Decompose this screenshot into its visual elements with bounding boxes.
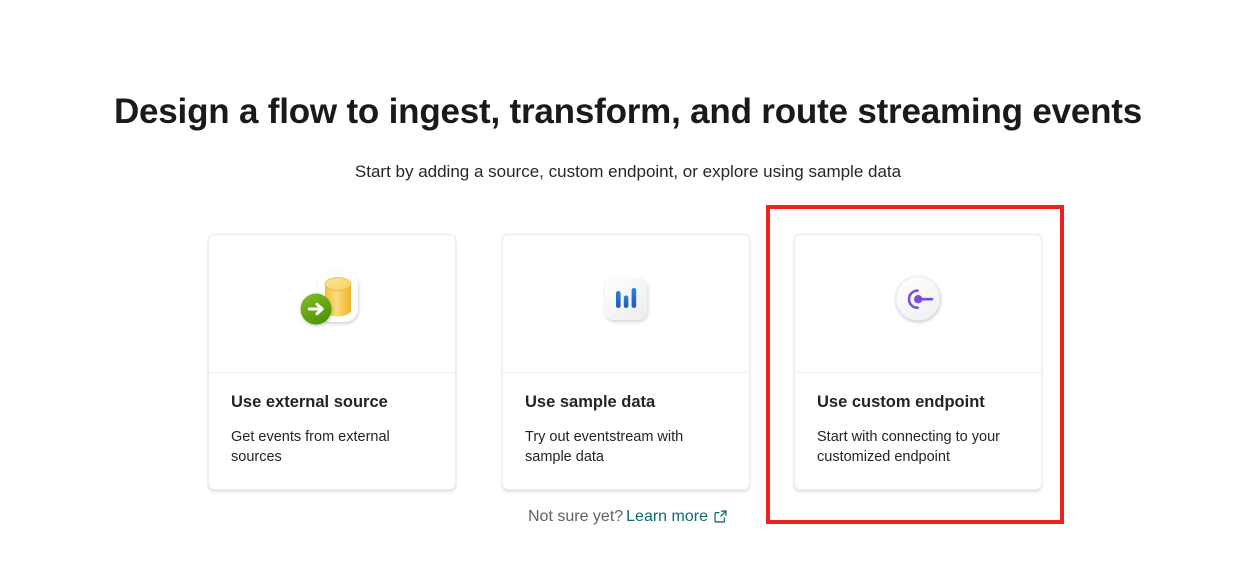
footer-help-line: Not sure yet?Learn more — [0, 506, 1256, 531]
bar-chart-icon — [595, 270, 657, 337]
custom-endpoint-icon — [885, 268, 951, 339]
learn-more-link[interactable]: Learn more — [626, 508, 728, 525]
page-subtitle: Start by adding a source, custom endpoin… — [0, 162, 1256, 182]
card-body: Use sample data Try out eventstream with… — [503, 373, 749, 468]
card-description: Try out eventstream with sample data — [525, 427, 725, 468]
external-link-icon — [713, 509, 728, 531]
footer-prefix-text: Not sure yet? — [528, 508, 623, 525]
card-body: Use external source Get events from exte… — [209, 373, 455, 468]
card-description: Get events from external sources — [231, 427, 431, 468]
card-icon-area — [503, 235, 749, 373]
card-icon-area — [209, 235, 455, 373]
database-with-green-arrow-icon — [296, 267, 368, 340]
card-title: Use external source — [231, 393, 433, 413]
card-use-sample-data[interactable]: Use sample data Try out eventstream with… — [502, 234, 750, 490]
source-options-card-row: Use external source Get events from exte… — [208, 234, 1044, 492]
page-title: Design a flow to ingest, transform, and … — [0, 91, 1256, 132]
card-description: Start with connecting to your customized… — [817, 427, 1017, 468]
card-title: Use sample data — [525, 393, 727, 413]
card-use-custom-endpoint[interactable]: Use custom endpoint Start with connectin… — [794, 234, 1042, 490]
card-icon-area — [795, 235, 1041, 373]
learn-more-label: Learn more — [626, 508, 708, 525]
card-use-external-source[interactable]: Use external source Get events from exte… — [208, 234, 456, 490]
eventstream-getting-started-page: Design a flow to ingest, transform, and … — [0, 0, 1256, 588]
card-title: Use custom endpoint — [817, 393, 1019, 413]
card-body: Use custom endpoint Start with connectin… — [795, 373, 1041, 468]
